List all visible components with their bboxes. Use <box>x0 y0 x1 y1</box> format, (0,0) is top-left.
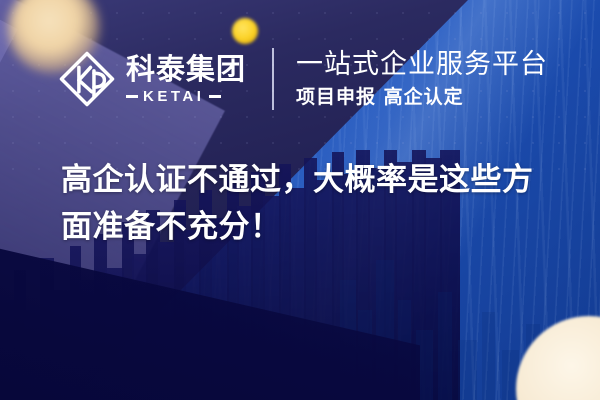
brand-name-en: KETAI <box>143 89 204 104</box>
vertical-divider <box>272 48 274 110</box>
brand-name-en-row: KETAI <box>126 89 246 104</box>
banner-header: 科泰集团 KETAI 一站式企业服务平台 项目申报 高企认定 <box>58 42 548 116</box>
headline: 高企认证不通过，大概率是这些方 面准备不充分！ <box>61 157 561 251</box>
brand-wordmark: 科泰集团 KETAI <box>126 55 246 104</box>
headline-line-1: 高企认证不通过，大概率是这些方 <box>61 157 561 204</box>
slogan-sub: 项目申报 高企认定 <box>296 87 548 108</box>
brand-logo[interactable]: 科泰集团 KETAI <box>58 50 246 108</box>
dash-left-icon <box>126 95 138 98</box>
brand-slogan: 一站式企业服务平台 项目申报 高企认定 <box>296 50 548 107</box>
kp-diamond-monogram-icon <box>58 50 116 108</box>
slogan-main: 一站式企业服务平台 <box>296 50 548 79</box>
promo-banner: 科泰集团 KETAI 一站式企业服务平台 项目申报 高企认定 高企认证不通过，大… <box>0 0 600 400</box>
gold-dot-icon <box>232 18 258 44</box>
dash-right-icon <box>209 95 221 98</box>
brand-name-cn: 科泰集团 <box>126 55 246 84</box>
headline-line-2: 面准备不充分！ <box>61 204 561 251</box>
